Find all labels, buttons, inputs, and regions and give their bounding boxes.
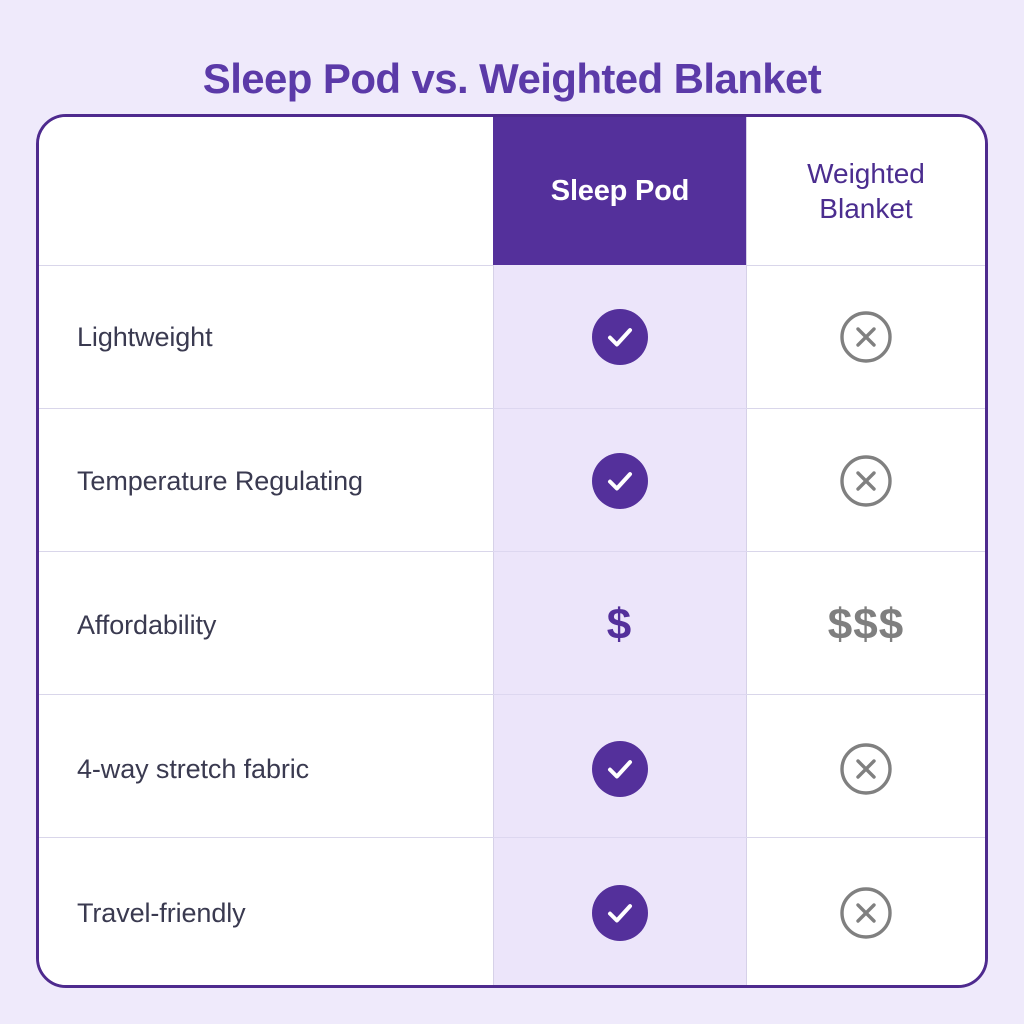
header-cell-feature (39, 117, 493, 265)
sleep-pod-value: $ (493, 553, 747, 697)
table-header: Sleep Pod Weighted Blanket (39, 117, 985, 265)
feature-label: Lightweight (39, 265, 493, 409)
cross-circle-icon (838, 309, 894, 365)
weighted-blanket-value (747, 265, 985, 409)
sleep-pod-value (493, 409, 747, 553)
check-icon (592, 885, 648, 941)
row-divider (747, 837, 988, 838)
table-row: Affordability $ $$$ (39, 553, 985, 697)
row-divider (39, 408, 493, 409)
feature-label: 4-way stretch fabric (39, 697, 493, 841)
page-title: Sleep Pod vs. Weighted Blanket (0, 56, 1024, 102)
row-divider (39, 837, 493, 838)
column-divider-feature-pod (493, 265, 494, 985)
row-divider (493, 837, 747, 838)
row-divider (39, 265, 493, 266)
sleep-pod-value (493, 841, 747, 985)
row-divider (747, 694, 988, 695)
table-row: 4-way stretch fabric (39, 697, 985, 841)
comparison-page: Sleep Pod vs. Weighted Blanket (0, 0, 1024, 1024)
feature-label: Affordability (39, 553, 493, 697)
sleep-pod-value (493, 697, 747, 841)
cross-circle-icon (838, 741, 894, 797)
header-cell-weighted-blanket: Weighted Blanket (747, 117, 985, 265)
table-body: Lightweight (39, 265, 985, 985)
table-row: Lightweight (39, 265, 985, 409)
row-divider (39, 694, 493, 695)
feature-label: Travel-friendly (39, 841, 493, 985)
price-indicator: $$$ (828, 600, 904, 649)
price-indicator: $ (607, 600, 633, 649)
table-row: Temperature Regulating (39, 409, 985, 553)
weighted-blanket-value: $$$ (747, 553, 985, 697)
feature-label: Temperature Regulating (39, 409, 493, 553)
comparison-table-container: Sleep Pod Weighted Blanket Lightweight (36, 114, 988, 988)
header-cell-weighted-blanket-label: Weighted Blanket (747, 156, 985, 226)
header-cell-sleep-pod: Sleep Pod (493, 117, 747, 265)
weighted-blanket-value (747, 841, 985, 985)
row-divider (493, 551, 747, 552)
row-divider (39, 551, 493, 552)
row-divider (747, 265, 988, 266)
cross-circle-icon (838, 885, 894, 941)
weighted-blanket-value (747, 697, 985, 841)
check-icon (592, 309, 648, 365)
header-row: Sleep Pod Weighted Blanket (39, 117, 985, 265)
check-icon (592, 741, 648, 797)
weighted-blanket-value (747, 409, 985, 553)
row-divider (747, 551, 988, 552)
row-divider (493, 408, 747, 409)
row-divider (747, 408, 988, 409)
cross-circle-icon (838, 453, 894, 509)
table-row: Travel-friendly (39, 841, 985, 985)
row-divider (493, 694, 747, 695)
check-icon (592, 453, 648, 509)
sleep-pod-value (493, 265, 747, 409)
